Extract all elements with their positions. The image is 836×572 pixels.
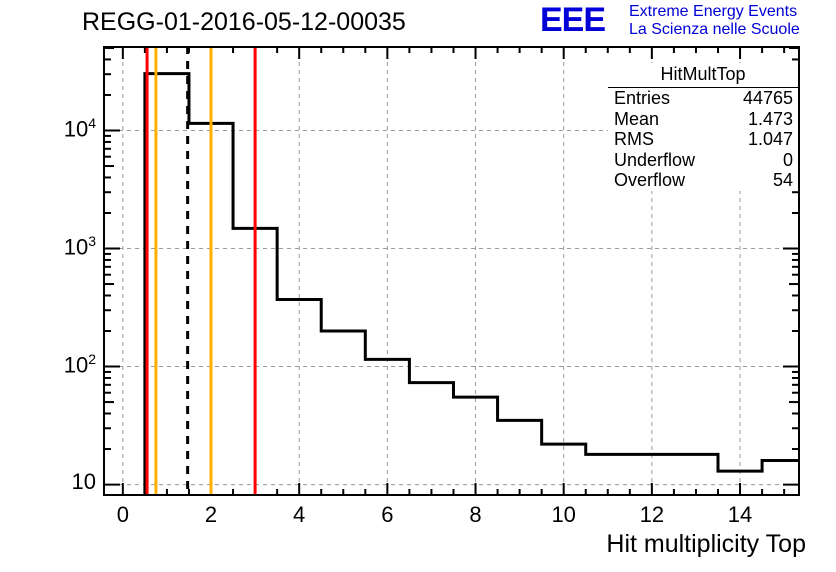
y-axis-ticklabel: 103 bbox=[28, 233, 96, 260]
eee-logo: EEE EEE Extreme Energy Events La Scienza… bbox=[540, 2, 832, 42]
y-axis-ticklabel: 104 bbox=[28, 115, 96, 142]
stats-row-key: Underflow bbox=[614, 150, 695, 171]
stats-rows: Entries44765Mean1.473RMS1.047Underflow0O… bbox=[608, 88, 798, 191]
stats-row-value: 1.047 bbox=[748, 129, 793, 150]
y-axis-ticklabel: 10 bbox=[28, 469, 96, 495]
stats-box: HitMultTop Entries44765Mean1.473RMS1.047… bbox=[608, 63, 798, 191]
stats-row: Overflow54 bbox=[608, 170, 798, 191]
stats-row-value: 0 bbox=[783, 150, 793, 171]
x-axis-ticklabel: 6 bbox=[357, 502, 417, 528]
x-axis-ticklabel: 8 bbox=[446, 502, 506, 528]
eee-logo-mark: EEE bbox=[540, 3, 605, 37]
x-axis-ticklabel: 10 bbox=[534, 502, 594, 528]
x-axis-ticklabel: 4 bbox=[269, 502, 329, 528]
eee-logo-line2: La Scienza nelle Scuole bbox=[629, 21, 800, 39]
root-canvas: REGG-01-2016-05-12-00035 EEE EEE Extreme… bbox=[0, 0, 836, 572]
stats-row: Mean1.473 bbox=[608, 109, 798, 130]
page-title: REGG-01-2016-05-12-00035 bbox=[82, 8, 406, 37]
stats-row-key: Entries bbox=[614, 88, 670, 109]
x-axis-title: Hit multiplicity Top bbox=[606, 530, 806, 559]
eee-logo-line1: Extreme Energy Events bbox=[629, 3, 797, 21]
x-axis-ticklabel: 14 bbox=[710, 502, 770, 528]
y-axis-ticklabel: 102 bbox=[28, 351, 96, 378]
x-axis-ticklabel: 2 bbox=[181, 502, 241, 528]
stats-row: Entries44765 bbox=[608, 88, 798, 109]
stats-row-key: Overflow bbox=[614, 170, 685, 191]
x-axis-ticklabel: 12 bbox=[622, 502, 682, 528]
stats-row-value: 1.473 bbox=[748, 109, 793, 130]
stats-row: RMS1.047 bbox=[608, 129, 798, 150]
stats-row-key: Mean bbox=[614, 109, 659, 130]
stats-row: Underflow0 bbox=[608, 150, 798, 171]
stats-row-value: 54 bbox=[773, 170, 793, 191]
x-axis-ticklabel: 0 bbox=[93, 502, 153, 528]
stats-row-key: RMS bbox=[614, 129, 654, 150]
stats-row-value: 44765 bbox=[743, 88, 793, 109]
stats-title: HitMultTop bbox=[608, 63, 798, 88]
